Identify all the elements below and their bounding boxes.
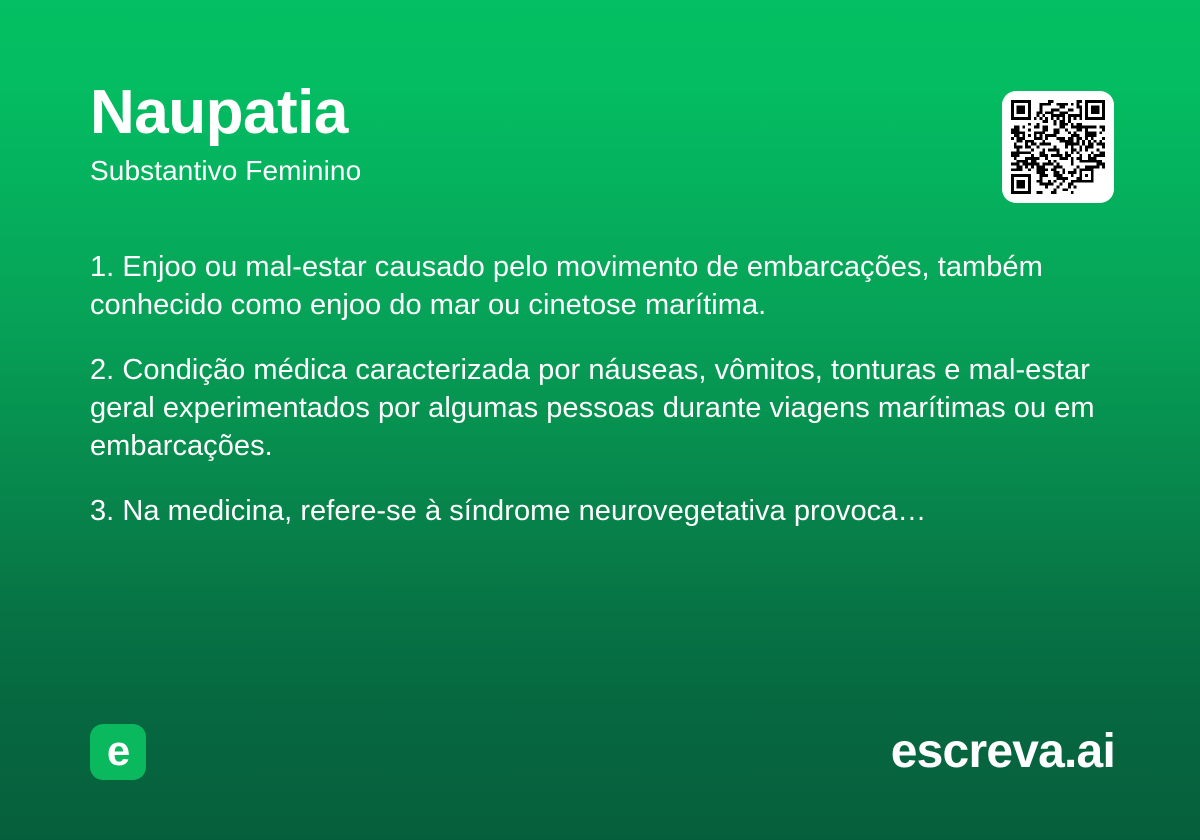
qr-code-icon[interactable] <box>1002 91 1114 203</box>
brand-wordmark: escreva.ai <box>891 728 1115 776</box>
dictionary-card: Naupatia Substantivo Feminino 1. Enjoo o… <box>0 0 1200 840</box>
definition-item: 3. Na medicina, refere-se à síndrome neu… <box>90 492 1105 530</box>
definition-item: 2. Condição médica caracterizada por náu… <box>90 351 1105 465</box>
logo-letter: e <box>107 730 129 772</box>
card-footer: e escreva.ai <box>90 724 1115 780</box>
escreva-logo-icon[interactable]: e <box>90 724 146 780</box>
definition-item: 1. Enjoo ou mal-estar causado pelo movim… <box>90 248 1105 324</box>
card-header: Naupatia Substantivo Feminino <box>90 82 1110 187</box>
page-title: Naupatia <box>90 82 1110 144</box>
definition-list: 1. Enjoo ou mal-estar causado pelo movim… <box>90 248 1105 530</box>
word-class-label: Substantivo Feminino <box>90 156 1110 187</box>
qr-code-canvas <box>1011 100 1105 194</box>
